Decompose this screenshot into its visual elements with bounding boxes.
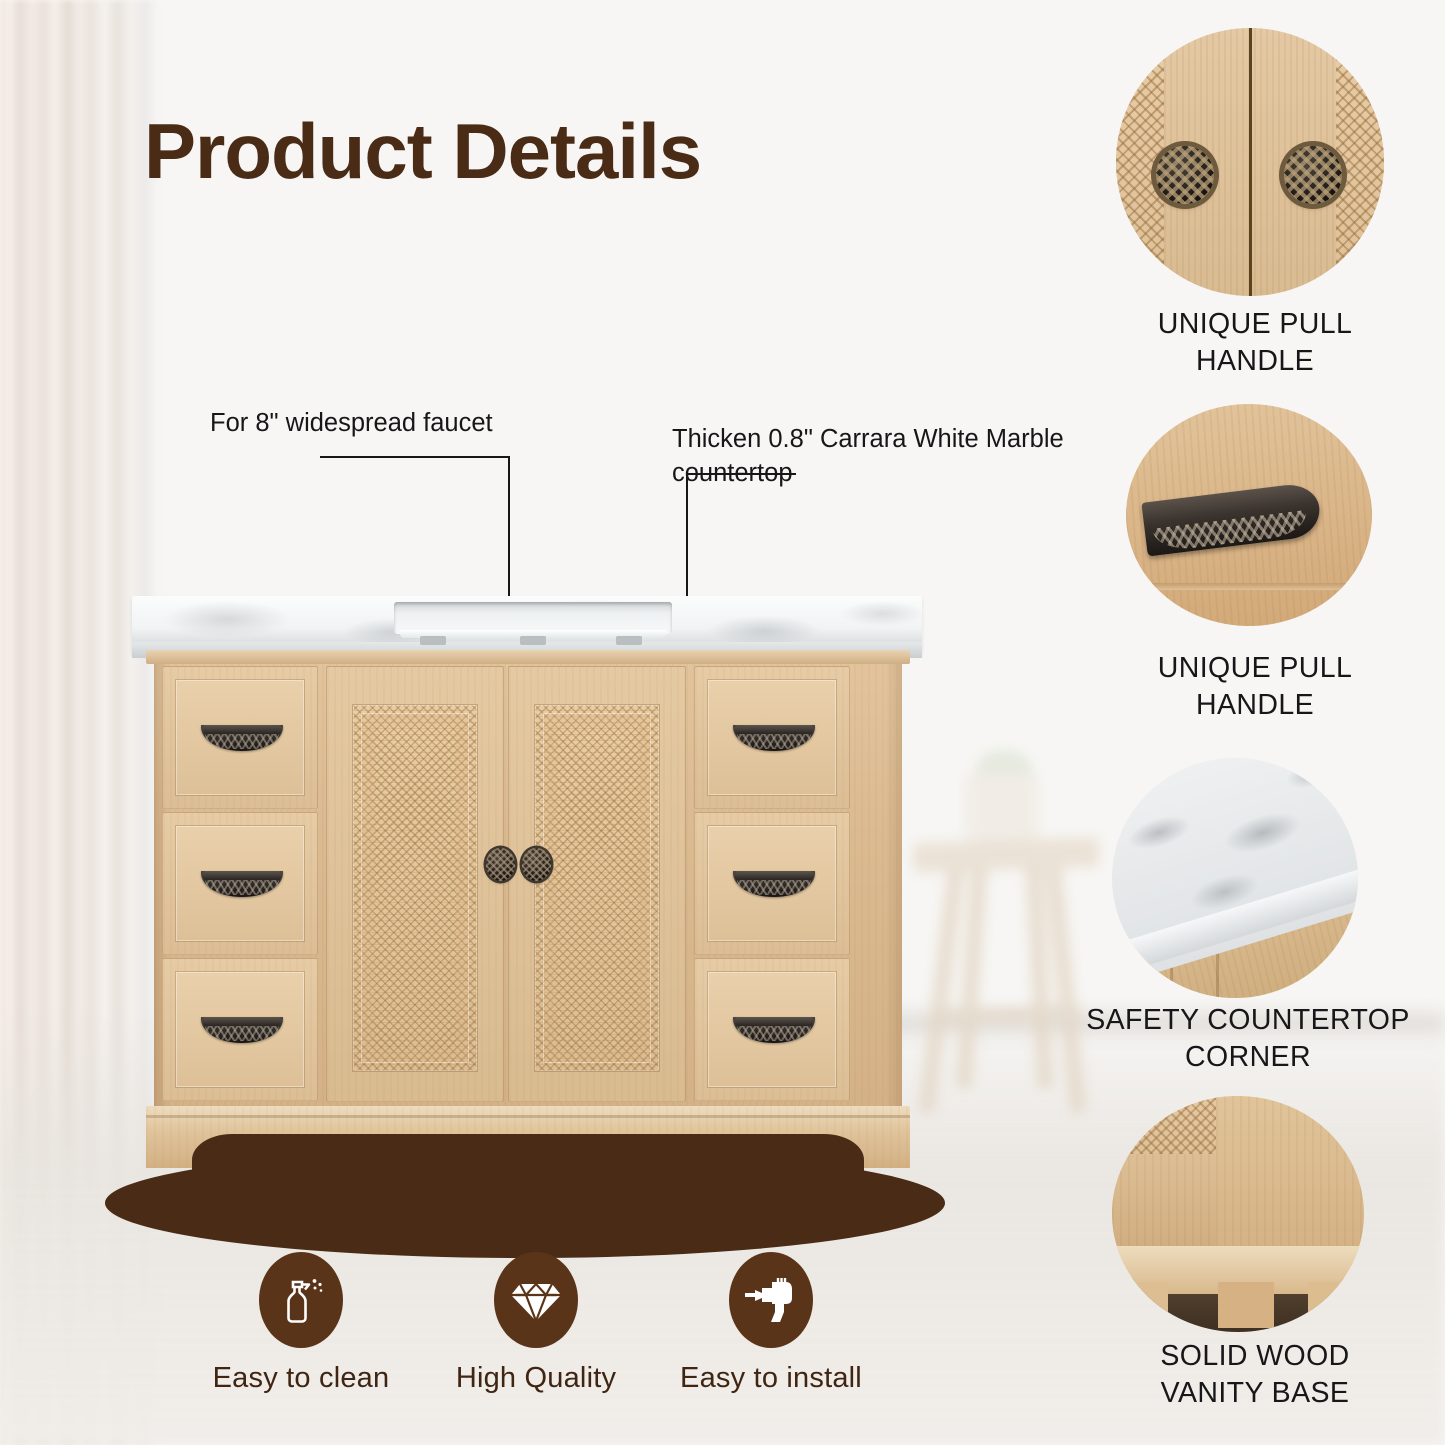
label-line-1: UNIQUE PULL [1158,652,1352,684]
cup-pull-handle-icon [201,1017,283,1043]
feature-easy-to-install[interactable]: Easy to install [656,1252,886,1395]
label-line-2: HANDLE [1196,345,1314,377]
round-knob-icon [522,848,551,881]
cup-pull-handle-icon [201,725,283,751]
callout-widespread-faucet-label: For 8" widespread faucet [210,407,493,441]
feature-easy-to-clean[interactable]: Easy to clean [186,1252,416,1395]
drill-icon [729,1252,813,1348]
drawer-stack-left [162,666,318,1102]
drawer [162,666,318,809]
cup-pull-handle-icon [733,1017,815,1043]
round-knob-icon [486,848,515,881]
feature-badge-row: Easy to clean High Quality [186,1252,906,1422]
drawer [694,812,850,955]
cup-pull-handle-icon [733,725,815,751]
detail-circle-unique-pull-handle-cup [1126,404,1372,626]
drawer-stack-right [694,666,850,1102]
cup-pull-handle-icon [733,871,815,897]
cabinet-top-moulding [146,650,910,664]
feature-high-quality[interactable]: High Quality [421,1252,651,1395]
round-woven-knob-icon [1284,146,1342,204]
cabinet-door-right [508,666,686,1102]
cabinet-side-right [886,656,902,1110]
drawer [162,958,318,1101]
detail-circle-solid-wood-vanity-base [1112,1096,1364,1332]
plinth-arch-cutout [192,1134,864,1180]
feature-label: High Quality [421,1362,651,1395]
vanity-product-image [132,470,922,1190]
feature-label: Easy to install [656,1362,886,1395]
detail-circle-unique-pull-handle-knob [1116,28,1384,296]
label-line-1: SAFETY COUNTERTOP [1086,1004,1410,1036]
label-line-1: SOLID WOOD [1160,1340,1349,1372]
detail-label-unique-pull-handle-knob: UNIQUE PULL HANDLE [1060,306,1445,380]
detail-label-safety-countertop-corner: SAFETY COUNTERTOP CORNER [1038,1002,1445,1076]
page-title: Product Details [144,112,701,190]
label-line-1: UNIQUE PULL [1158,308,1352,340]
detail-circle-safety-countertop-corner [1112,758,1358,998]
detail-label-solid-wood-vanity-base: SOLID WOOD VANITY BASE [1060,1338,1445,1412]
cabinet-doors [326,666,686,1102]
cabinet-door-left [326,666,504,1102]
cup-pull-handle-icon [201,871,283,897]
drawer [694,958,850,1101]
label-line-2: HANDLE [1196,689,1314,721]
detail-label-unique-pull-handle-cup: UNIQUE PULL HANDLE [1060,650,1445,724]
drawer [694,666,850,809]
round-woven-knob-icon [1156,146,1214,204]
spray-bottle-icon [259,1252,343,1348]
drawer [162,812,318,955]
diamond-icon [494,1252,578,1348]
feature-label: Easy to clean [186,1362,416,1395]
label-line-2: VANITY BASE [1161,1377,1350,1409]
label-line-2: CORNER [1185,1041,1311,1073]
